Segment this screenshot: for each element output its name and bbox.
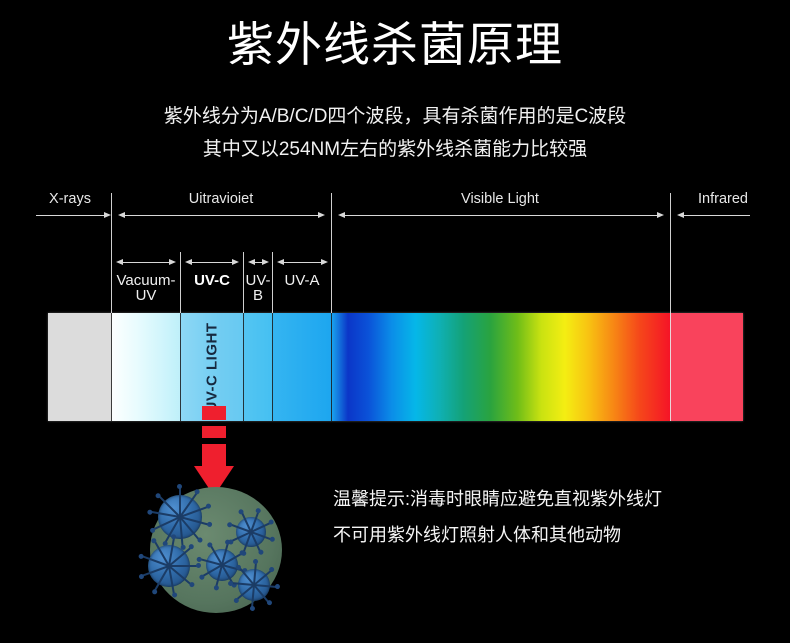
arrow-line-uvc xyxy=(191,262,232,263)
bar-divider-uva-visible xyxy=(331,313,332,421)
uvc-light-vertical-label: UV-C LIGHT xyxy=(180,313,243,421)
spectrum-segment-vacuum-uv xyxy=(111,313,180,421)
warning-note-line-2: 不可用紫外线灯照射人体和其他动物 xyxy=(333,526,621,544)
virus-particle xyxy=(158,495,202,539)
arrow-line-visible-light xyxy=(344,215,657,216)
arrow-line-xrays xyxy=(36,215,104,216)
arrow-head-ultraviolet-left xyxy=(118,212,125,218)
band-label-uvc: UV-C xyxy=(182,273,242,288)
band-label-vacuum-uv-line2: UV xyxy=(113,288,179,303)
uvc-light-text: UV-C LIGHT xyxy=(203,322,220,412)
arrow-head-infrared-left xyxy=(677,212,684,218)
arrow-head-uvb-left xyxy=(248,259,255,265)
band-label-vacuum-uv-line1: Vacuum- xyxy=(113,273,179,288)
arrow-line-infrared xyxy=(683,215,750,216)
arrow-head-uva-left xyxy=(277,259,284,265)
bar-divider-uvb-uva xyxy=(272,313,273,421)
boundary-line-vacuumuv-uvc xyxy=(180,252,181,315)
arrow-head-xrays-right xyxy=(104,212,111,218)
boundary-line-uvb-uva xyxy=(272,252,273,315)
bar-divider-uvc-uvb xyxy=(243,313,244,421)
spectrum-segment-uvc: UV-C LIGHT xyxy=(180,313,243,421)
region-label-ultraviolet: Uitravioiet xyxy=(141,191,301,207)
arrow-head-vacuumuv-right xyxy=(169,259,176,265)
band-label-vacuum-uv: Vacuum- UV xyxy=(113,273,179,304)
spectrum-segment-infrared xyxy=(670,313,743,421)
virus-particle xyxy=(148,545,190,587)
infographic-canvas: 紫外线杀菌原理 紫外线分为A/B/C/D四个波段，具有杀菌作用的是C波段 其中又… xyxy=(0,0,790,643)
arrow-line-vacuum-uv xyxy=(122,262,169,263)
spectrum-segment-visible-light xyxy=(331,313,670,421)
spectrum-segment-xrays xyxy=(48,313,111,421)
bar-divider-visible-infrared xyxy=(670,313,671,421)
germ-colony-circle xyxy=(150,487,282,613)
arrow-head-ultraviolet-right xyxy=(318,212,325,218)
region-label-xrays: X-rays xyxy=(30,191,110,207)
arrow-line-uva xyxy=(283,262,321,263)
band-label-uvb: UV- B xyxy=(244,273,272,304)
region-label-visible-light: Visible Light xyxy=(420,191,580,207)
arrow-line-ultraviolet xyxy=(124,215,318,216)
spectrum-chart: X-rays Uitravioiet Visible Light Infrare… xyxy=(0,0,790,643)
arrow-head-uvb-right xyxy=(262,259,269,265)
band-label-uva-line1: UV-A xyxy=(274,273,330,288)
uvc-beam-segment-2 xyxy=(202,426,226,438)
arrow-head-uvc-left xyxy=(185,259,192,265)
virus-particle xyxy=(206,549,238,581)
arrow-head-visible-right xyxy=(657,212,664,218)
uvc-beam-segment-1 xyxy=(202,406,226,420)
virus-particle xyxy=(236,517,266,547)
band-label-uvb-line2: B xyxy=(244,288,272,303)
spectrum-segment-uva xyxy=(272,313,331,421)
band-label-uva: UV-A xyxy=(274,273,330,288)
warning-note-line-1: 温馨提示:消毒时眼睛应避免直视紫外线灯 xyxy=(333,490,662,508)
boundary-line-xray-uv xyxy=(111,193,112,315)
arrow-head-uva-right xyxy=(321,259,328,265)
band-label-uvb-line1: UV- xyxy=(244,273,272,288)
boundary-line-uv-visible xyxy=(331,193,332,315)
boundary-line-visible-infrared xyxy=(670,193,671,315)
band-label-uvc-line1: UV-C xyxy=(182,273,242,288)
arrow-line-uvb xyxy=(254,262,262,263)
spectrum-segment-uvb xyxy=(243,313,272,421)
virus-particle xyxy=(238,569,270,601)
spectrum-bar: UV-C LIGHT xyxy=(48,313,743,421)
arrow-head-uvc-right xyxy=(232,259,239,265)
region-label-infrared: Infrared xyxy=(676,191,770,207)
arrow-head-vacuumuv-left xyxy=(116,259,123,265)
bar-divider-xray-uv xyxy=(111,313,112,421)
arrow-head-visible-left xyxy=(338,212,345,218)
bar-divider-vacuumuv-uvc xyxy=(180,313,181,421)
